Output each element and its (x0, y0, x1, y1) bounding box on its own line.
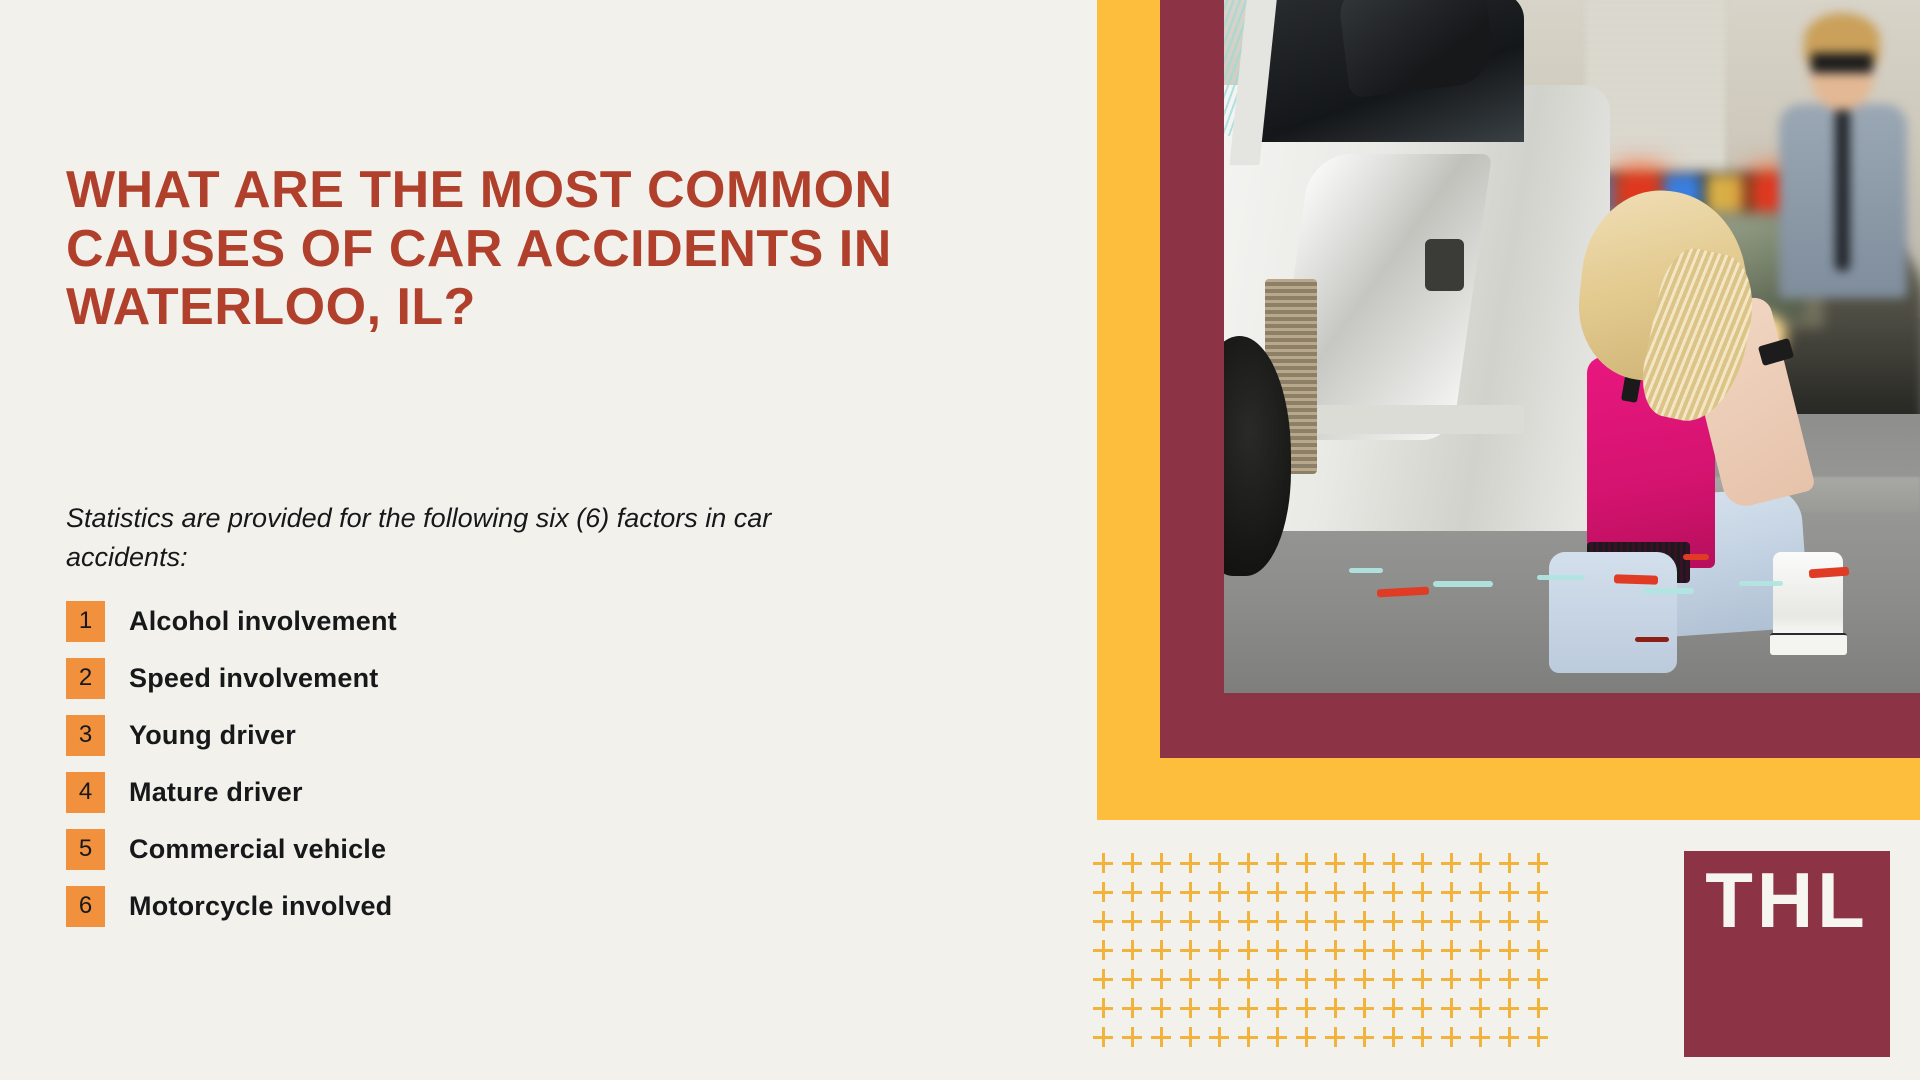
plus-icon (1122, 853, 1142, 873)
decorative-plus-pattern (1093, 853, 1563, 1068)
list-item: 3 Young driver (66, 712, 826, 758)
plus-icon (1325, 911, 1345, 931)
plus-icon (1470, 1027, 1490, 1047)
plus-icon (1499, 1027, 1519, 1047)
plus-icon (1267, 940, 1287, 960)
factor-label: Alcohol involvement (129, 606, 397, 637)
factor-number-badge: 2 (66, 658, 105, 699)
plus-icon (1354, 1027, 1374, 1047)
plus-icon (1528, 853, 1548, 873)
plus-icon (1267, 882, 1287, 902)
plus-icon (1528, 940, 1548, 960)
plus-icon (1499, 882, 1519, 902)
plus-icon (1180, 911, 1200, 931)
plus-icon (1499, 853, 1519, 873)
left-content-panel: WHAT ARE THE MOST COMMON CAUSES OF CAR A… (0, 0, 1097, 1080)
plus-icon (1267, 1027, 1287, 1047)
plus-icon (1209, 940, 1229, 960)
plus-icon (1412, 853, 1432, 873)
plus-icon (1383, 998, 1403, 1018)
plus-icon (1151, 998, 1171, 1018)
plus-icon (1238, 998, 1258, 1018)
plus-icon (1180, 940, 1200, 960)
plus-icon (1470, 882, 1490, 902)
plus-icon (1122, 1027, 1142, 1047)
factor-label: Commercial vehicle (129, 834, 386, 865)
plus-icon (1238, 969, 1258, 989)
plus-icon (1122, 969, 1142, 989)
plus-icon (1209, 853, 1229, 873)
plus-icon (1122, 998, 1142, 1018)
plus-icon (1180, 969, 1200, 989)
list-item: 4 Mature driver (66, 769, 826, 815)
plus-icon (1238, 1027, 1258, 1047)
plus-icon (1238, 882, 1258, 902)
plus-icon (1122, 882, 1142, 902)
plus-icon (1325, 940, 1345, 960)
glass-debris (1433, 581, 1493, 587)
plus-icon (1122, 911, 1142, 931)
plus-icon (1267, 911, 1287, 931)
plus-icon (1441, 940, 1461, 960)
plus-icon (1093, 853, 1113, 873)
plus-icon (1151, 882, 1171, 902)
plus-icon (1441, 1027, 1461, 1047)
plus-icon (1093, 1027, 1113, 1047)
plus-icon (1093, 911, 1113, 931)
plus-icon (1528, 998, 1548, 1018)
plus-icon (1209, 998, 1229, 1018)
taillight-debris (1683, 554, 1709, 560)
plus-icon (1441, 882, 1461, 902)
factor-number-badge: 4 (66, 772, 105, 813)
plus-icon (1528, 882, 1548, 902)
plus-icon (1093, 882, 1113, 902)
plus-icon (1354, 882, 1374, 902)
accident-photo (1224, 0, 1920, 693)
plus-icon (1383, 911, 1403, 931)
plus-icon (1093, 998, 1113, 1018)
factor-label: Mature driver (129, 777, 303, 808)
plus-icon (1354, 853, 1374, 873)
plus-icon (1354, 998, 1374, 1018)
plus-icon (1238, 853, 1258, 873)
plus-icon (1209, 911, 1229, 931)
plus-icon (1470, 969, 1490, 989)
plus-icon (1499, 940, 1519, 960)
list-item: 6 Motorcycle involved (66, 883, 826, 929)
plus-icon (1267, 853, 1287, 873)
plus-icon (1412, 911, 1432, 931)
plus-icon (1093, 969, 1113, 989)
plus-icon (1296, 853, 1316, 873)
plus-icon (1441, 853, 1461, 873)
plus-icon (1354, 940, 1374, 960)
plus-icon (1354, 969, 1374, 989)
plus-icon (1296, 911, 1316, 931)
plus-icon (1470, 911, 1490, 931)
plus-icon (1412, 882, 1432, 902)
plus-icon (1528, 911, 1548, 931)
plus-icon (1180, 882, 1200, 902)
taillight-debris (1635, 637, 1669, 642)
plus-icon (1296, 998, 1316, 1018)
plus-icon (1122, 940, 1142, 960)
list-item: 1 Alcohol involvement (66, 598, 826, 644)
plus-icon (1325, 969, 1345, 989)
plus-icon (1470, 998, 1490, 1018)
plus-icon (1151, 969, 1171, 989)
plus-icon (1528, 1027, 1548, 1047)
plus-icon (1151, 940, 1171, 960)
plus-icon (1383, 853, 1403, 873)
factor-label: Motorcycle involved (129, 891, 392, 922)
plus-icon (1528, 969, 1548, 989)
plus-icon (1296, 1027, 1316, 1047)
plus-icon (1383, 969, 1403, 989)
plus-icon (1441, 969, 1461, 989)
plus-icon (1238, 911, 1258, 931)
plus-icon (1354, 911, 1374, 931)
plus-icon (1383, 882, 1403, 902)
plus-icon (1325, 998, 1345, 1018)
plus-icon (1180, 1027, 1200, 1047)
plus-icon (1470, 853, 1490, 873)
plus-icon (1151, 911, 1171, 931)
factor-label: Young driver (129, 720, 296, 751)
plus-icon (1238, 940, 1258, 960)
plus-icon (1209, 1027, 1229, 1047)
subtitle-text: Statistics are provided for the followin… (66, 499, 826, 577)
glass-debris (1349, 568, 1383, 573)
plus-icon (1441, 998, 1461, 1018)
glass-debris (1642, 588, 1694, 594)
plus-icon (1499, 998, 1519, 1018)
plus-icon (1412, 969, 1432, 989)
plus-icon (1296, 969, 1316, 989)
plus-icon (1151, 1027, 1171, 1047)
glass-debris (1537, 575, 1585, 580)
plus-icon (1296, 882, 1316, 902)
plus-icon (1383, 1027, 1403, 1047)
plus-icon (1383, 940, 1403, 960)
plus-icon (1180, 998, 1200, 1018)
plus-icon (1470, 940, 1490, 960)
plus-icon (1093, 940, 1113, 960)
plus-icon (1267, 969, 1287, 989)
plus-icon (1412, 1027, 1432, 1047)
plus-icon (1412, 940, 1432, 960)
thl-logo[interactable]: THL (1684, 851, 1890, 1057)
list-item: 2 Speed involvement (66, 655, 826, 701)
factor-number-badge: 3 (66, 715, 105, 756)
factor-number-badge: 6 (66, 886, 105, 927)
distressed-woman (1523, 191, 1843, 693)
thl-logo-text: THL (1684, 861, 1890, 939)
plus-icon (1209, 882, 1229, 902)
plus-icon (1180, 853, 1200, 873)
factor-number-badge: 1 (66, 601, 105, 642)
plus-icon (1325, 853, 1345, 873)
plus-icon (1209, 969, 1229, 989)
plus-icon (1267, 998, 1287, 1018)
factors-list: 1 Alcohol involvement 2 Speed involvemen… (66, 598, 826, 940)
plus-icon (1499, 969, 1519, 989)
glass-debris (1739, 581, 1783, 586)
plus-icon (1296, 940, 1316, 960)
factor-number-badge: 5 (66, 829, 105, 870)
plus-icon (1325, 1027, 1345, 1047)
list-item: 5 Commercial vehicle (66, 826, 826, 872)
factor-label: Speed involvement (129, 663, 378, 694)
page-title: WHAT ARE THE MOST COMMON CAUSES OF CAR A… (66, 161, 946, 337)
plus-icon (1325, 882, 1345, 902)
plus-icon (1151, 853, 1171, 873)
plus-icon (1499, 911, 1519, 931)
plus-icon (1412, 998, 1432, 1018)
plus-icon (1441, 911, 1461, 931)
taillight-debris (1614, 574, 1658, 585)
